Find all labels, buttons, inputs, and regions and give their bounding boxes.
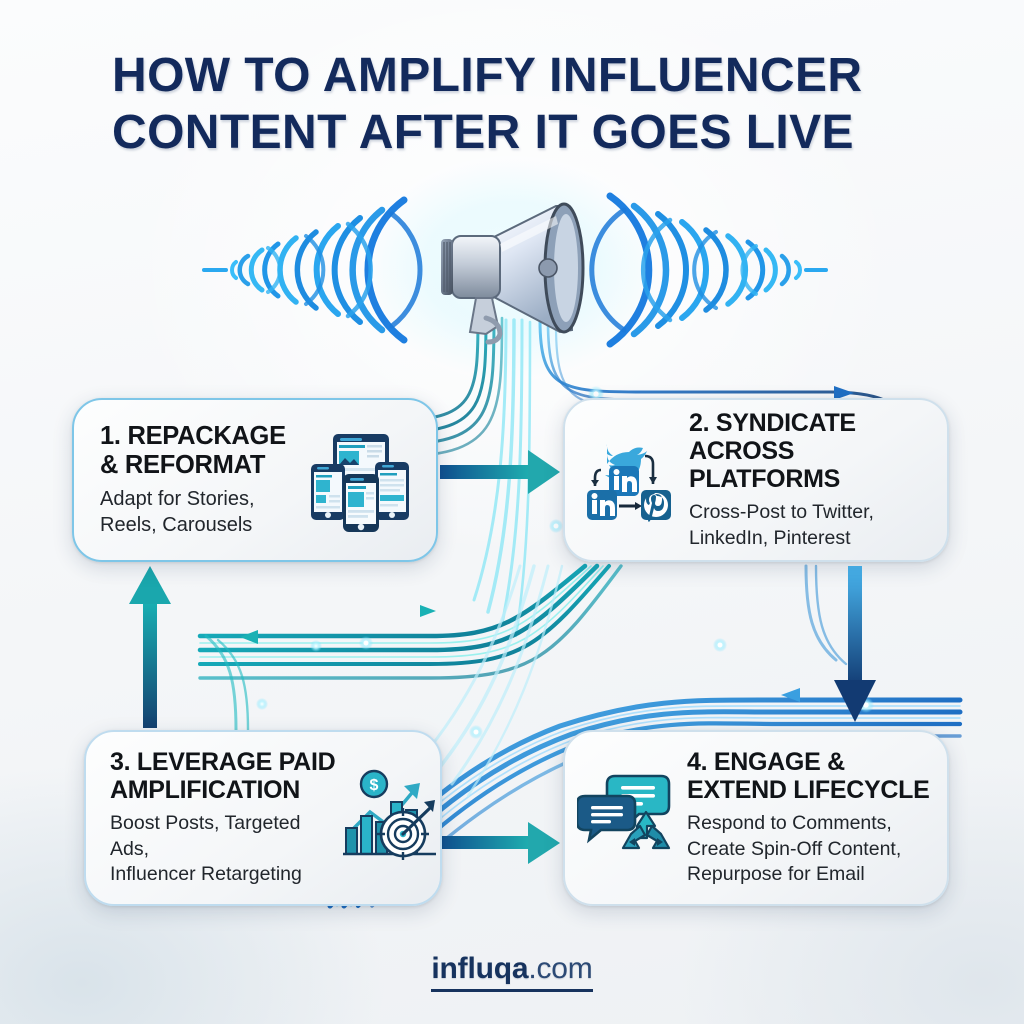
step-1-description: Adapt for Stories, Reels, Carousels <box>100 486 299 538</box>
step-card-4[interactable]: 4. ENGAGE & EXTEND LIFECYCLE Respond to … <box>563 730 949 906</box>
multi-device-screens-icon <box>303 424 415 536</box>
step-2-title: 2. SYNDICATE ACROSS PLATFORMS <box>689 409 947 493</box>
step-4-description: Respond to Comments, Create Spin-Off Con… <box>687 811 947 887</box>
footer: influqa.com <box>0 952 1024 992</box>
step-4-title: 4. ENGAGE & EXTEND LIFECYCLE <box>687 748 947 804</box>
step-3-text: 3. LEVERAGE PAID AMPLIFICATION Boost Pos… <box>86 748 340 887</box>
arrow-step2-to-step4 <box>834 566 876 722</box>
brand-wordmark[interactable]: influqa.com <box>431 952 592 992</box>
step-card-2[interactable]: 2. SYNDICATE ACROSS PLATFORMS Cross-Post… <box>563 398 949 562</box>
social-platforms-icon <box>577 428 681 532</box>
step-4-text: 4. ENGAGE & EXTEND LIFECYCLE Respond to … <box>677 748 947 887</box>
arrow-step1-to-step2 <box>440 450 560 494</box>
step-card-1[interactable]: 1. REPACKAGE & REFORMAT Adapt for Storie… <box>72 398 438 562</box>
step-3-title: 3. LEVERAGE PAID AMPLIFICATION <box>110 748 340 804</box>
arrow-step3-to-step1 <box>129 566 171 728</box>
step-1-title: 1. REPACKAGE & REFORMAT <box>100 422 299 479</box>
step-2-description: Cross-Post to Twitter, LinkedIn, Pintere… <box>689 500 947 551</box>
step-3-description: Boost Posts, Targeted Ads, Influencer Re… <box>110 811 340 887</box>
arrow-step3-to-step4 <box>440 822 560 864</box>
comments-recycle-icon <box>577 768 677 868</box>
svg-text:$: $ <box>370 777 379 794</box>
growth-chart-target-icon: $ <box>340 768 440 868</box>
brand-name: influqa <box>431 952 528 985</box>
page-title: HOW TO AMPLIFY INFLUENCER CONTENT AFTER … <box>112 48 942 161</box>
step-2-text: 2. SYNDICATE ACROSS PLATFORMS Cross-Post… <box>681 409 947 551</box>
step-1-text: 1. REPACKAGE & REFORMAT Adapt for Storie… <box>74 422 299 538</box>
brand-tld: .com <box>528 952 592 985</box>
infographic-canvas: HOW TO AMPLIFY INFLUENCER CONTENT AFTER … <box>0 0 1024 1024</box>
step-card-3[interactable]: 3. LEVERAGE PAID AMPLIFICATION Boost Pos… <box>84 730 442 906</box>
